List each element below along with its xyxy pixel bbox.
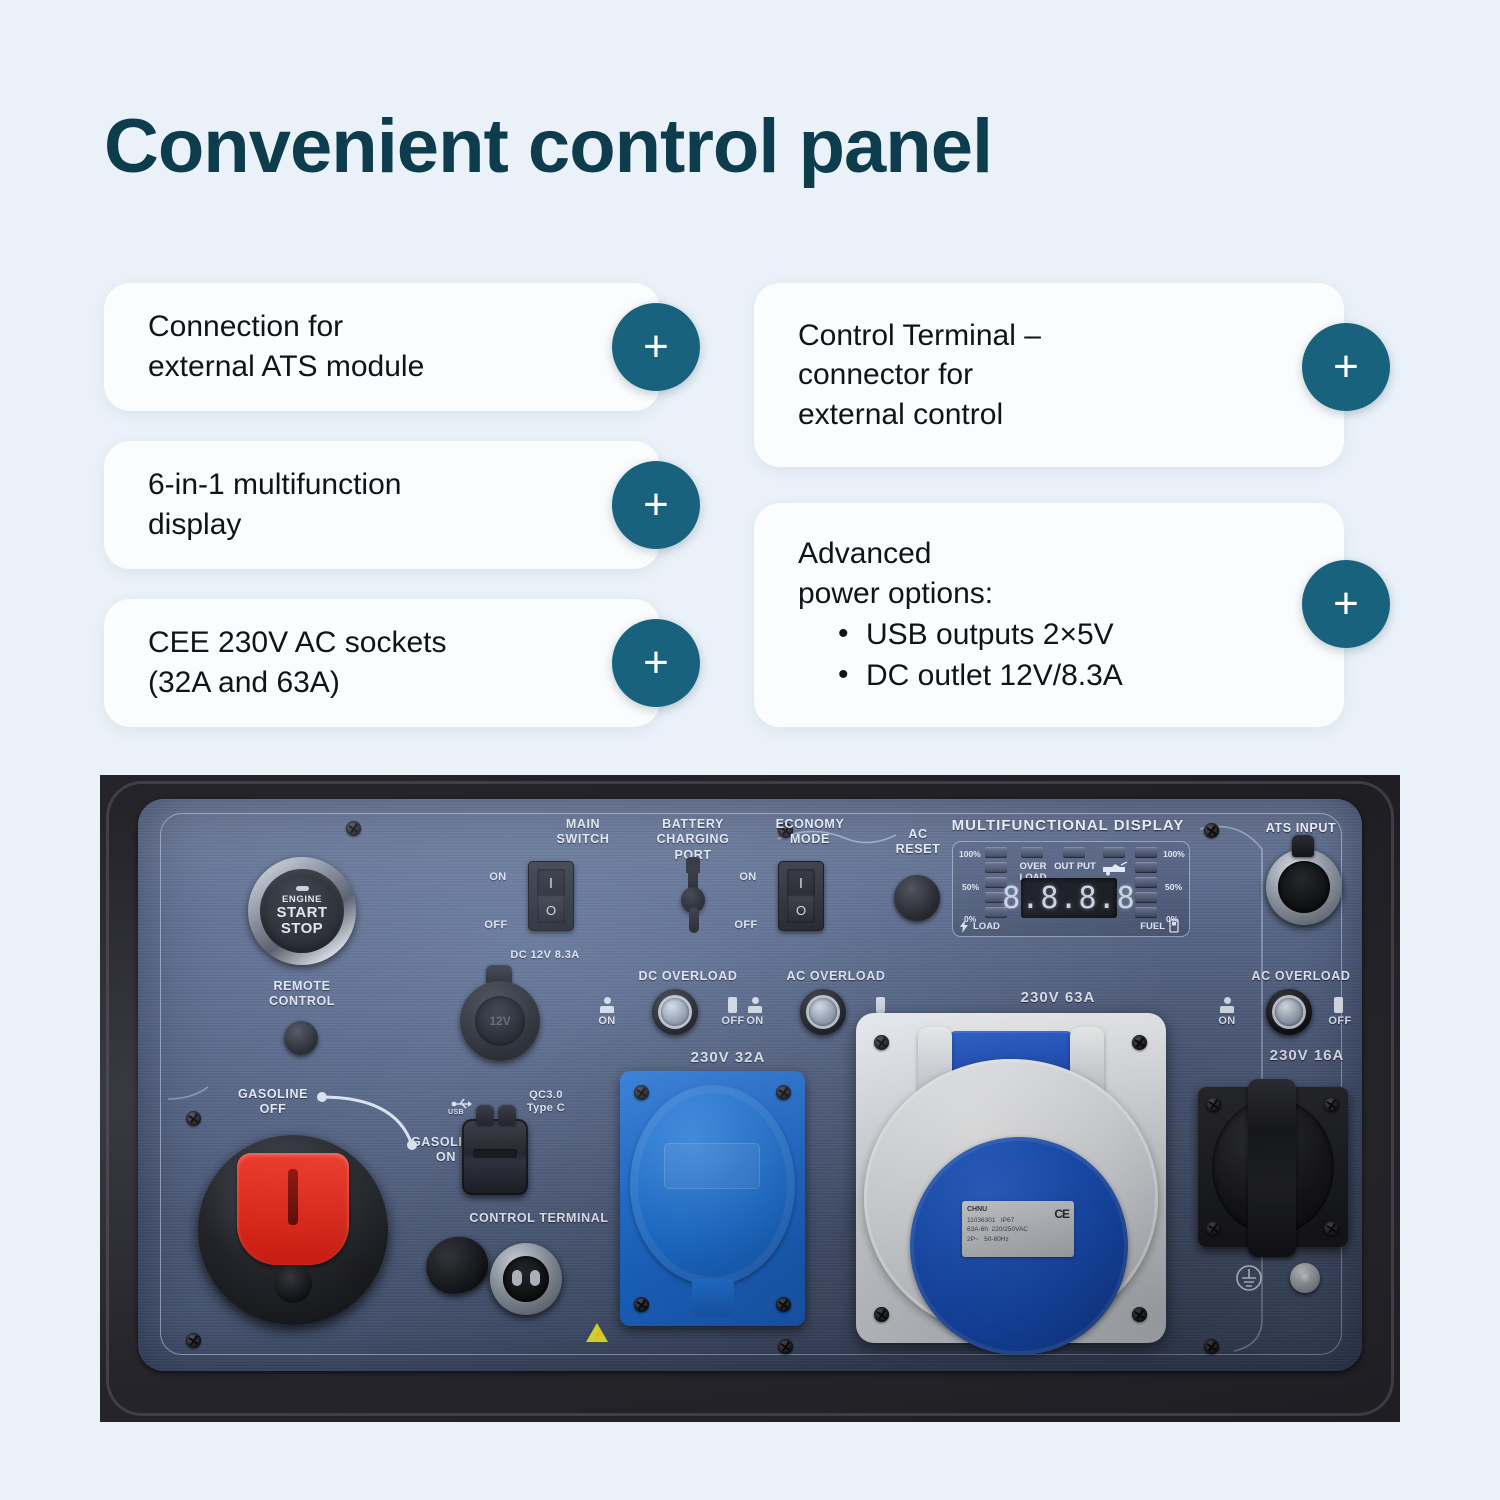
economy-mode-label: ECONOMY MODE [752, 817, 868, 848]
control-terminal-cap[interactable] [419, 1229, 495, 1301]
usb-abbrev-label: USB [442, 1109, 470, 1118]
cee-63a-ring: CE CHNU 11036301 IP67 63A-6h 220/250VAC … [864, 1059, 1158, 1337]
ac-overload-breaker[interactable] [800, 989, 846, 1035]
control-terminal-connector[interactable] [490, 1243, 562, 1315]
cee-63a-lid[interactable]: CE CHNU 11036301 IP67 63A-6h 220/250VAC … [910, 1137, 1128, 1355]
ac-overload-on-label: ON [737, 1015, 773, 1028]
screw [186, 1111, 201, 1126]
main-switch-off-label: OFF [476, 919, 516, 932]
list-item: DC outlet 12V/8.3A [836, 656, 1123, 696]
screw [634, 1085, 649, 1100]
earth-terminal-bolt[interactable] [1290, 1263, 1320, 1293]
socket-voltage-rating: 220/250VAC [992, 1226, 1028, 1233]
schuko-socket-16a[interactable] [1198, 1087, 1348, 1247]
dc-12v-socket[interactable]: 12V [460, 981, 540, 1061]
feature-card-sockets[interactable]: CEE 230V AC sockets (32A and 63A) [104, 599, 660, 727]
multifunctional-display-title: MULTIFUNCTIONAL DISPLAY [928, 817, 1208, 835]
load-footer-label: LOAD [973, 922, 1013, 933]
overload-on-icon [600, 997, 614, 1013]
overload-off-icon [728, 997, 737, 1013]
cee-63a-rating-label: CE CHNU 11036301 IP67 63A-6h 220/250VAC … [962, 1201, 1074, 1257]
main-switch-on-marker: I [549, 876, 553, 891]
cee-32a-embossed-plate [664, 1143, 760, 1189]
dc-12v-socket-interior: 12V [475, 996, 525, 1046]
gasoline-valve-knob[interactable] [198, 1135, 388, 1325]
ac-overload-right-breaker[interactable] [1266, 989, 1312, 1035]
feature-card-terminal[interactable]: Control Terminal – connector for externa… [754, 283, 1344, 467]
control-panel-photo: ENGINE START STOP REMOTE CONTROL MAIN SW… [100, 775, 1400, 1422]
usb-cover-strap [476, 1105, 494, 1125]
electrical-hazard-warning-icon [586, 1323, 608, 1342]
fuel-bar-column [1135, 847, 1157, 918]
screw [776, 1297, 791, 1312]
multifunctional-display: 100% 50% 0% OVER LOAD OUT PUT [952, 841, 1190, 937]
socket-63a-label: 230V 63A [968, 989, 1148, 1007]
usb-cover-strap [498, 1105, 516, 1125]
main-switch-off-marker: O [546, 904, 556, 917]
feature-card-terminal-label: Control Terminal – connector for externa… [754, 316, 1071, 435]
expand-plus-button-display[interactable]: + [612, 461, 700, 549]
remote-control-button[interactable] [284, 1021, 318, 1055]
load-scale-50: 50% [962, 882, 979, 892]
screw [778, 1339, 793, 1354]
feature-card-power[interactable]: Advanced power options: USB outputs 2×5V… [754, 503, 1344, 727]
feature-card-ats-label: Connection for external ATS module [104, 307, 454, 386]
dc-12v-rating-label: DC 12V 8.3A [480, 949, 610, 962]
lightning-icon [959, 920, 969, 933]
gasoline-off-label: GASOLINE OFF [218, 1087, 328, 1118]
feature-card-display-label: 6-in-1 multifunction display [104, 465, 431, 544]
screw [1206, 1221, 1221, 1236]
feature-card-power-heading: Advanced power options: [798, 534, 1123, 613]
cee-32a-tab [692, 1279, 734, 1317]
control-terminal-label: CONTROL TERMINAL [444, 1211, 634, 1226]
overload-on-icon [1220, 997, 1234, 1013]
dc-overload-label: DC OVERLOAD [622, 969, 754, 984]
ats-input-connector[interactable] [1266, 849, 1342, 925]
fuel-scale-100: 100% [1163, 849, 1185, 859]
start-button-led [296, 886, 309, 891]
dc-overload-on-label: ON [589, 1015, 625, 1028]
load-scale-100: 100% [959, 849, 981, 859]
screw [874, 1035, 889, 1050]
page-title: Convenient control panel [104, 103, 992, 190]
ac-overload-right-label: AC OVERLOAD [1226, 969, 1362, 984]
economy-on-label: ON [730, 871, 766, 884]
screw [346, 821, 361, 836]
engine-start-stop-button[interactable]: ENGINE START STOP [248, 857, 356, 965]
control-panel-faceplate: ENGINE START STOP REMOTE CONTROL MAIN SW… [138, 799, 1362, 1371]
screw [1204, 1339, 1219, 1354]
screw [1324, 1221, 1339, 1236]
ats-input-cover-strap [1292, 835, 1314, 857]
economy-off-label: OFF [726, 919, 766, 932]
ats-input-label: ATS INPUT [1246, 821, 1356, 836]
economy-off-marker: O [796, 904, 806, 917]
socket-16a-label: 230V 16A [1232, 1047, 1362, 1065]
feature-card-power-bullets: USB outputs 2×5V DC outlet 12V/8.3A [798, 615, 1123, 695]
output-indicator-lamp [1063, 847, 1085, 858]
fuel-bar-segment [1135, 877, 1157, 888]
battery-port-strap [689, 907, 699, 933]
gasoline-valve-hub [274, 1265, 312, 1303]
socket-ip-rating: IP67 [1001, 1217, 1014, 1224]
earth-ground-icon [1234, 1263, 1264, 1293]
qc30-type-c-label: QC3.0 Type C [506, 1089, 586, 1116]
socket-current-rating: 63A-6h [967, 1226, 988, 1233]
screw [186, 1333, 201, 1348]
control-terminal-interior [503, 1256, 549, 1302]
load-bar-segment [985, 847, 1007, 858]
schuko-socket-flap[interactable] [1248, 1079, 1296, 1257]
cee-socket-63a[interactable]: CE CHNU 11036301 IP67 63A-6h 220/250VAC … [856, 1013, 1166, 1343]
overload-off-icon [876, 997, 885, 1013]
screw [776, 1085, 791, 1100]
seven-segment-display: 8.8.8.8 [1021, 878, 1117, 918]
ac-overload-right-on-label: ON [1209, 1015, 1245, 1028]
dc-overload-breaker[interactable] [652, 989, 698, 1035]
battery-charging-port-label: BATTERY CHARGING PORT [633, 817, 753, 863]
overload-off-icon [1334, 997, 1343, 1013]
usb-port-cover[interactable] [462, 1119, 528, 1195]
expand-plus-button-ats[interactable]: + [612, 303, 700, 391]
list-item: USB outputs 2×5V [836, 615, 1123, 655]
expand-plus-button-terminal[interactable]: + [1302, 323, 1390, 411]
expand-plus-button-sockets[interactable]: + [612, 619, 700, 707]
start-button-line3: STOP [281, 921, 323, 936]
ac-overload-label: AC OVERLOAD [770, 969, 902, 984]
overload-on-icon [748, 997, 762, 1013]
socket-32a-label: 230V 32A [658, 1049, 798, 1067]
remote-control-label: REMOTE CONTROL [250, 979, 354, 1010]
fuel-bar-segment [1135, 847, 1157, 858]
gasoline-valve-red-lever[interactable] [237, 1153, 349, 1265]
socket-code: 11036301 [967, 1217, 995, 1224]
socket-frequency: 50-60Hz [984, 1236, 1009, 1243]
fuel-bar-segment [1135, 862, 1157, 873]
fuel-pump-icon [1169, 919, 1181, 933]
ac-overload-right-off-label: OFF [1322, 1015, 1358, 1028]
control-terminal-pin [530, 1270, 540, 1286]
main-switch-on-label: ON [480, 871, 516, 884]
oil-indicator-lamp [1103, 847, 1125, 858]
cee-socket-32a[interactable] [620, 1071, 805, 1326]
economy-mode-rocker[interactable]: I O [778, 861, 824, 931]
main-switch-rocker[interactable]: I O [528, 861, 574, 931]
screw [1132, 1307, 1147, 1322]
screw [634, 1297, 649, 1312]
screw [1206, 1097, 1221, 1112]
fuel-bar-segment [1135, 892, 1157, 903]
ce-mark: CE [1054, 1205, 1069, 1223]
screw [1132, 1035, 1147, 1050]
economy-on-marker: I [799, 876, 803, 891]
screw [874, 1307, 889, 1322]
feature-cards: Connection for external ATS module + 6-i… [0, 275, 1500, 735]
fuel-scale-50: 50% [1165, 882, 1182, 892]
overload-indicator-lamp [1021, 847, 1043, 858]
expand-plus-button-power[interactable]: + [1302, 560, 1390, 648]
ac-reset-button[interactable] [894, 875, 940, 921]
screw [1324, 1097, 1339, 1112]
fuel-bar-segment [1135, 907, 1157, 918]
main-switch-label: MAIN SWITCH [528, 817, 638, 848]
feature-card-display[interactable]: 6-in-1 multifunction display [104, 441, 660, 569]
socket-poles: 2P~ [967, 1236, 979, 1243]
output-indicator-label: OUT PUT [1053, 862, 1097, 873]
control-terminal-pin [512, 1270, 522, 1286]
start-button-line2: START [277, 905, 328, 920]
socket-brand: CHNU [967, 1206, 987, 1213]
load-bar-segment [985, 862, 1007, 873]
fuel-footer-label: FUEL [1125, 922, 1165, 933]
feature-card-ats[interactable]: Connection for external ATS module [104, 283, 660, 411]
oil-can-icon [1099, 861, 1129, 877]
feature-card-sockets-label: CEE 230V AC sockets (32A and 63A) [104, 623, 476, 702]
